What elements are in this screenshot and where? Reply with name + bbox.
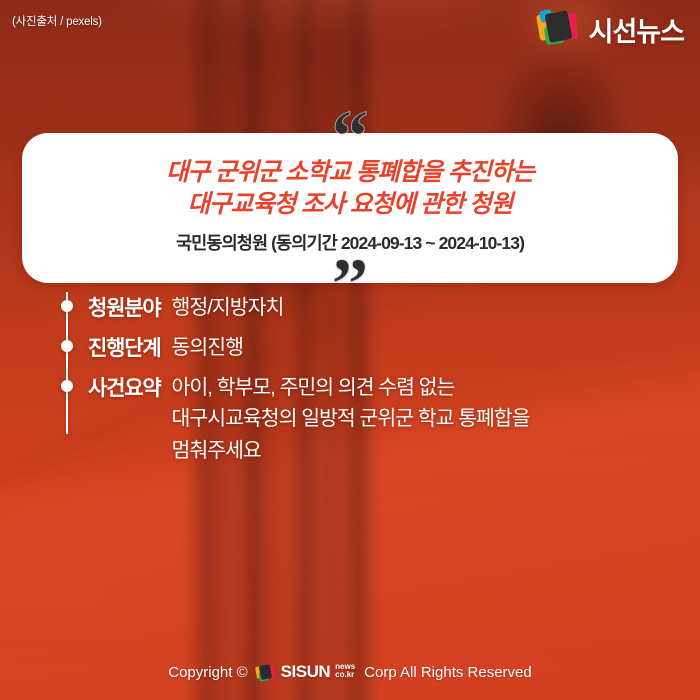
petition-details: 청원분야 행정/지방자치 진행단계 동의진행 사건요약 아이, 학부모, 주민의… bbox=[58, 292, 680, 475]
petition-subtitle: 국민동의청원 (동의기간 2024-09-13 ~ 2024-10-13) bbox=[176, 230, 524, 255]
timeline-dot-icon bbox=[61, 300, 73, 312]
petition-title-line-1: 대구 군위군 소학교 통폐합을 추진하는 bbox=[166, 157, 534, 189]
detail-label: 사건요약 bbox=[88, 372, 160, 402]
logo-dark-square bbox=[258, 664, 271, 680]
brand-logo: 시선뉴스 bbox=[538, 8, 684, 50]
footer-brand-sub: co.kr bbox=[335, 671, 355, 679]
detail-value: 동의진행 bbox=[171, 332, 242, 363]
detail-value-line: 동의진행 bbox=[171, 332, 242, 363]
detail-value-line: 대구시교육청의 일방적 군위군 학교 통폐합을 bbox=[171, 403, 529, 434]
logo-dark-square bbox=[544, 10, 572, 43]
timeline-dot-icon bbox=[61, 380, 73, 392]
detail-value-line: 아이, 학부모, 주민의 의견 수렴 없는 bbox=[171, 372, 529, 403]
detail-value: 행정/지방자치 bbox=[171, 292, 283, 323]
footer-brand-domain: news co.kr bbox=[335, 663, 355, 678]
detail-row-field: 청원분야 행정/지방자치 bbox=[58, 292, 680, 323]
sisun-logo-icon bbox=[256, 663, 275, 682]
detail-row-stage: 진행단계 동의진행 bbox=[58, 332, 680, 363]
copyright-prefix: Copyright © bbox=[168, 664, 247, 681]
photo-credit: (사진출처 / pexels) bbox=[12, 13, 102, 29]
detail-row-summary: 사건요약 아이, 학부모, 주민의 의견 수렴 없는 대구시교육청의 일방적 군… bbox=[58, 372, 680, 465]
footer-copyright: Copyright © SISUN news co.kr Corp All Ri… bbox=[0, 662, 700, 682]
detail-label: 청원분야 bbox=[88, 292, 160, 322]
detail-value-line: 멈춰주세요 bbox=[171, 435, 529, 466]
detail-value: 아이, 학부모, 주민의 의견 수렴 없는 대구시교육청의 일방적 군위군 학교… bbox=[171, 372, 529, 465]
copyright-suffix: Corp All Rights Reserved bbox=[364, 664, 532, 681]
card-news-slide: (사진출처 / pexels) 시선뉴스 “ 대구 군위군 소학교 통폐합을 추… bbox=[0, 0, 700, 700]
detail-label: 진행단계 bbox=[88, 332, 160, 362]
detail-value-line: 행정/지방자치 bbox=[171, 292, 283, 323]
sisun-logo-icon bbox=[538, 8, 580, 50]
timeline-dot-icon bbox=[61, 340, 73, 352]
footer-brand-mark: SISUN bbox=[281, 662, 330, 682]
brand-name: 시선뉴스 bbox=[589, 10, 684, 49]
petition-title-line-2: 대구교육청 조사 요청에 관한 청원 bbox=[188, 189, 513, 221]
petition-title-card: 대구 군위군 소학교 통폐합을 추진하는 대구교육청 조사 요청에 관한 청원 … bbox=[22, 133, 678, 283]
